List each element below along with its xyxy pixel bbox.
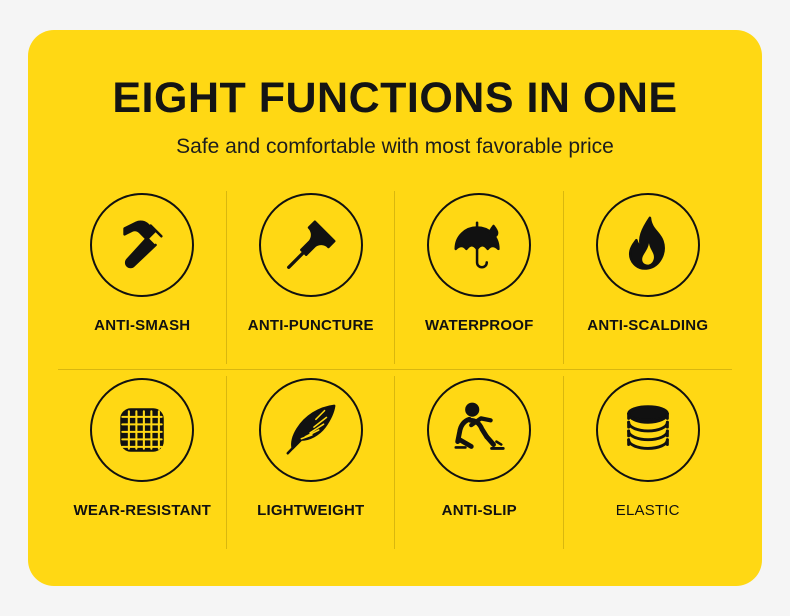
- feature-item-waterproof: WATERPROOF: [395, 185, 564, 370]
- feature-label: ANTI-SCALDING: [587, 317, 708, 334]
- feature-item-anti-smash: ANTI-SMASH: [58, 185, 227, 370]
- spring-coil-icon: [617, 399, 679, 461]
- icon-circle: [596, 378, 700, 482]
- feature-label: LIGHTWEIGHT: [257, 502, 364, 519]
- icon-circle: [427, 378, 531, 482]
- icon-circle: [259, 378, 363, 482]
- icon-circle: [259, 193, 363, 297]
- page-title: EIGHT FUNCTIONS IN ONE: [28, 74, 762, 123]
- feature-item-lightweight: LIGHTWEIGHT: [227, 370, 396, 555]
- feather-icon: [280, 399, 342, 461]
- feature-label: ELASTIC: [616, 502, 680, 519]
- feature-label: ANTI-SLIP: [442, 502, 517, 519]
- hammer-icon: [111, 214, 173, 276]
- feature-label: ANTI-SMASH: [94, 317, 190, 334]
- feature-card: EIGHT FUNCTIONS IN ONE Safe and comforta…: [28, 30, 762, 586]
- umbrella-rain-icon: [448, 214, 510, 276]
- feature-item-anti-puncture: ANTI-PUNCTURE: [227, 185, 396, 370]
- feature-label: WATERPROOF: [425, 317, 533, 334]
- page-subtitle: Safe and comfortable with most favorable…: [28, 135, 762, 159]
- icon-circle: [427, 193, 531, 297]
- feature-item-wear-resistant: WEAR-RESISTANT: [58, 370, 227, 555]
- feature-item-anti-slip: ANTI-SLIP: [395, 370, 564, 555]
- icon-circle: [90, 193, 194, 297]
- features-grid: ANTI-SMASH ANTI-PUNCTURE: [58, 185, 732, 555]
- slip-person-icon: [448, 399, 510, 461]
- push-pin-icon: [280, 214, 342, 276]
- feature-item-anti-scalding: ANTI-SCALDING: [564, 185, 733, 370]
- icon-circle: [596, 193, 700, 297]
- tire-icon: [112, 400, 172, 460]
- flame-icon: [617, 214, 679, 276]
- feature-label: WEAR-RESISTANT: [73, 502, 211, 519]
- feature-label: ANTI-PUNCTURE: [248, 317, 374, 334]
- icon-circle: [90, 378, 194, 482]
- feature-item-elastic: ELASTIC: [564, 370, 733, 555]
